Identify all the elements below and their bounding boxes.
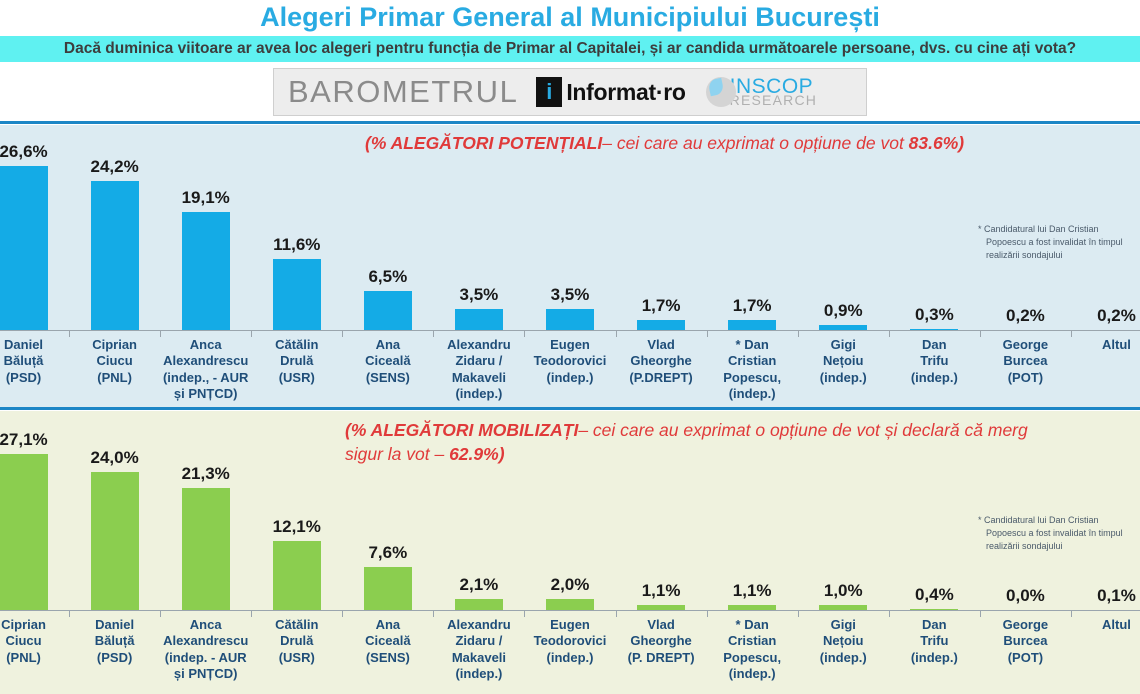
x-axis-label-line: (indep.) (525, 370, 614, 386)
bar-value-label: 1,1% (707, 581, 798, 601)
x-axis-labels-top: DanielBăluță(PSD)CiprianCiucu(PNL)AncaAl… (0, 337, 1140, 405)
x-axis-label-line: George (981, 617, 1070, 633)
x-axis-label-line: (PSD) (70, 650, 159, 666)
bar-value-label: 1,7% (707, 296, 798, 316)
bar-value-label: 1,0% (798, 581, 889, 601)
bar (273, 541, 321, 611)
bar-value-label: 19,1% (160, 188, 251, 208)
x-axis-label-line: Alexandru (434, 337, 523, 353)
bar-slot: 3,5% (524, 125, 615, 331)
x-axis-label-line: Dan (890, 337, 979, 353)
x-axis-label-line: Ciceală (343, 353, 432, 369)
bar-value-label: 0,2% (1071, 306, 1140, 326)
axis-tick (251, 331, 252, 337)
bar-value-label: 6,5% (342, 267, 433, 287)
bar-slot: 2,1% (433, 411, 524, 611)
bar-value-label: 21,3% (160, 464, 251, 484)
bar-slot: 26,6% (0, 125, 69, 331)
inscop-research-label: RESEARCH (730, 94, 817, 107)
bar-slot: 2,0% (524, 411, 615, 611)
x-axis-label-line: Makaveli (434, 650, 523, 666)
x-axis-label-line: Ciceală (343, 633, 432, 649)
x-axis-label-line: Gheorghe (617, 633, 706, 649)
x-axis-label-line: Vlad (617, 337, 706, 353)
x-axis-label: CiprianCiucu(PNL) (0, 617, 69, 693)
x-axis-label-line: Burcea (981, 353, 1070, 369)
x-axis-label: AlexandruZidaru /Makaveli(indep.) (433, 617, 524, 693)
bar-value-label: 1,7% (616, 296, 707, 316)
x-axis-label-line: Alexandrescu (161, 633, 250, 649)
x-axis-label-line: Altul (1072, 337, 1140, 353)
x-axis-label-line: (indep., - AUR (161, 370, 250, 386)
x-axis-label: Altul (1071, 337, 1140, 405)
bar-slot: 6,5% (342, 125, 433, 331)
poll-infographic: Alegeri Primar General al Municipiului B… (0, 0, 1140, 694)
x-axis-label-line: Gigi (799, 617, 888, 633)
bar-slot: 12,1% (251, 411, 342, 611)
x-axis-label-line: Băluță (70, 633, 159, 649)
x-axis-label-line: Trifu (890, 633, 979, 649)
x-axis-label-line: Cătălin (252, 617, 341, 633)
x-axis-label: EugenTeodorovici(indep.) (524, 337, 615, 405)
x-axis-label-line: (POT) (981, 370, 1070, 386)
axis-tick (69, 611, 70, 617)
axis-tick (342, 331, 343, 337)
x-axis-label: DanielBăluță(PSD) (69, 617, 160, 693)
bar-slot: 0,9% (798, 125, 889, 331)
axis-tick (342, 611, 343, 617)
bar-group-bottom: 27,1%24,0%21,3%12,1%7,6%2,1%2,0%1,1%1,1%… (0, 411, 1140, 611)
bar-slot: 24,2% (69, 125, 160, 331)
x-axis-label-line: (SENS) (343, 650, 432, 666)
logo-bar: BAROMETRUL i Informat·ro INSCOP RESEARCH (273, 68, 867, 116)
axis-tick (1071, 331, 1072, 337)
bar-value-label: 0,1% (1071, 586, 1140, 606)
x-axis-label-line: Ciprian (0, 617, 68, 633)
x-axis-label-line: Trifu (890, 353, 979, 369)
x-axis-label: DanielBăluță(PSD) (0, 337, 69, 405)
x-axis-label-line: Teodorovici (525, 633, 614, 649)
bar (0, 166, 48, 331)
axis-tick (524, 611, 525, 617)
x-axis-label: * DanCristianPopescu,(indep.) (707, 617, 798, 693)
bar-slot: 0,2% (980, 125, 1071, 331)
x-axis-label-line: (SENS) (343, 370, 432, 386)
bar-value-label: 12,1% (251, 517, 342, 537)
bar-value-label: 0,4% (889, 585, 980, 605)
x-axis-label: EugenTeodorovici(indep.) (524, 617, 615, 693)
axis-tick (798, 611, 799, 617)
bar (364, 567, 412, 611)
axis-tick (160, 331, 161, 337)
bar-value-label: 26,6% (0, 142, 69, 162)
axis-tick (980, 331, 981, 337)
bar-slot: 11,6% (251, 125, 342, 331)
x-axis-label-line: Nețoiu (799, 633, 888, 649)
informat-i-icon: i (536, 77, 562, 107)
bar-value-label: 0,2% (980, 306, 1071, 326)
bar (182, 488, 230, 611)
bar-value-label: 0,0% (980, 586, 1071, 606)
bar (364, 291, 412, 331)
x-axis-labels-bottom: CiprianCiucu(PNL)DanielBăluță(PSD)AncaAl… (0, 617, 1140, 693)
x-axis-label-line: Drulă (252, 633, 341, 649)
x-axis-label: GigiNețoiu(indep.) (798, 337, 889, 405)
x-axis-label-line: George (981, 337, 1070, 353)
x-axis-label: VladGheorghe(P. DREPT) (616, 617, 707, 693)
bar-slot: 1,7% (616, 125, 707, 331)
bar-slot: 1,1% (616, 411, 707, 611)
x-axis-label-line: Alexandru (434, 617, 523, 633)
axis-tick (433, 611, 434, 617)
x-axis-label: CătălinDrulă(USR) (251, 617, 342, 693)
bar-value-label: 3,5% (524, 285, 615, 305)
x-axis-label-line: Popescu, (708, 370, 797, 386)
axis-tick (889, 611, 890, 617)
x-axis-label-line: Zidaru / (434, 633, 523, 649)
bar-group-top: 26,6%24,2%19,1%11,6%6,5%3,5%3,5%1,7%1,7%… (0, 125, 1140, 331)
divider-middle (0, 407, 1140, 410)
bar-value-label: 24,2% (69, 157, 160, 177)
x-axis-label-line: Alexandrescu (161, 353, 250, 369)
x-axis-label-line: Eugen (525, 617, 614, 633)
axis-tick (433, 331, 434, 337)
x-axis-label-line: (indep.) (708, 666, 797, 682)
axis-tick (798, 331, 799, 337)
x-axis-label-line: Drulă (252, 353, 341, 369)
x-axis-label-line: Burcea (981, 633, 1070, 649)
x-axis-label: GeorgeBurcea(POT) (980, 337, 1071, 405)
x-axis-label: AnaCiceală(SENS) (342, 337, 433, 405)
x-axis-label-line: Altul (1072, 617, 1140, 633)
x-axis-label: GeorgeBurcea(POT) (980, 617, 1071, 693)
x-axis-label: DanTrifu(indep.) (889, 337, 980, 405)
axis-tick (251, 611, 252, 617)
x-axis-label-line: Ciprian (70, 337, 159, 353)
page-title: Alegeri Primar General al Municipiului B… (0, 2, 1140, 33)
bar-value-label: 0,9% (798, 301, 889, 321)
x-axis-label-line: Gheorghe (617, 353, 706, 369)
x-axis-label-line: (indep.) (434, 666, 523, 682)
plot-area-top: 26,6%24,2%19,1%11,6%6,5%3,5%3,5%1,7%1,7%… (0, 125, 1140, 331)
axis-tick (707, 611, 708, 617)
bar-slot: 0,1% (1071, 411, 1140, 611)
bar-slot: 7,6% (342, 411, 433, 611)
x-axis-label: CiprianCiucu(PNL) (69, 337, 160, 405)
x-axis-label-line: Anca (161, 617, 250, 633)
axis-tick (160, 611, 161, 617)
x-axis-label-line: Ciucu (0, 633, 68, 649)
bar (91, 472, 139, 611)
x-axis-label-line: Cristian (708, 353, 797, 369)
x-axis-label-line: (indep.) (525, 650, 614, 666)
axis-tick (69, 331, 70, 337)
axis-tick (524, 331, 525, 337)
axis-tick (1071, 611, 1072, 617)
bar-slot: 0,4% (889, 411, 980, 611)
x-axis-label-line: Cătălin (252, 337, 341, 353)
x-axis-label-line: (PNL) (70, 370, 159, 386)
bar (0, 454, 48, 611)
bar (546, 309, 594, 331)
inscop-circle-icon (706, 77, 736, 107)
informat-ro-wordmark: Informat·ro (566, 79, 685, 106)
x-axis-label-line: (indep.) (434, 386, 523, 402)
x-axis-label-line: (indep. - AUR (161, 650, 250, 666)
x-axis-label-line: Eugen (525, 337, 614, 353)
x-axis-label-line: Cristian (708, 633, 797, 649)
x-axis-label-line: Daniel (70, 617, 159, 633)
axis-tick (707, 331, 708, 337)
x-axis-label-line: Zidaru / (434, 353, 523, 369)
bar-value-label: 11,6% (251, 235, 342, 255)
axis-tick (616, 331, 617, 337)
x-axis-label: * DanCristianPopescu,(indep.) (707, 337, 798, 405)
bar-slot: 19,1% (160, 125, 251, 331)
chart-alegatori-potentiali: (% ALEGĂTORI POTENȚIALI– cei care au exp… (0, 125, 1140, 407)
bar-value-label: 7,6% (342, 543, 433, 563)
x-axis-label-line: Daniel (0, 337, 68, 353)
x-axis-label-line: (P.DREPT) (617, 370, 706, 386)
informat-ro-logo: i Informat·ro (536, 77, 685, 107)
bar-slot: 1,0% (798, 411, 889, 611)
x-axis-label-line: (PNL) (0, 650, 68, 666)
bar-slot: 0,3% (889, 125, 980, 331)
x-axis-label-line: (USR) (252, 650, 341, 666)
x-axis-top (0, 330, 1140, 331)
x-axis-label-line: Băluță (0, 353, 68, 369)
x-axis-label-line: (USR) (252, 370, 341, 386)
axis-tick (889, 331, 890, 337)
x-axis-label-line: (indep.) (890, 650, 979, 666)
bar-slot: 1,1% (707, 411, 798, 611)
axis-tick (616, 611, 617, 617)
chart-alegatori-mobilizati: (% ALEGĂTORI MOBILIZAȚI– cei care au exp… (0, 411, 1140, 694)
inscop-logo: INSCOP RESEARCH (706, 77, 817, 108)
x-axis-label-line: (P. DREPT) (617, 650, 706, 666)
x-axis-label: Altul (1071, 617, 1140, 693)
bar (455, 309, 503, 331)
x-axis-label-line: Teodorovici (525, 353, 614, 369)
x-axis-label-line: Ana (343, 617, 432, 633)
bar-slot: 0,2% (1071, 125, 1140, 331)
x-axis-label-line: (POT) (981, 650, 1070, 666)
barometrul-wordmark: BAROMETRUL (288, 74, 518, 110)
x-axis-bottom (0, 610, 1140, 611)
x-axis-label-line: Makaveli (434, 370, 523, 386)
x-axis-label: AnaCiceală(SENS) (342, 617, 433, 693)
x-axis-label-line: și PNȚCD) (161, 386, 250, 402)
bar-value-label: 24,0% (69, 448, 160, 468)
x-axis-label-line: Ana (343, 337, 432, 353)
bar-value-label: 2,0% (524, 575, 615, 595)
bar-value-label: 1,1% (616, 581, 707, 601)
x-axis-label-line: Nețoiu (799, 353, 888, 369)
subtitle-question: Dacă duminica viitoare ar avea loc alege… (0, 36, 1140, 62)
x-axis-label: GigiNețoiu(indep.) (798, 617, 889, 693)
informat-i-glyph: i (546, 81, 552, 103)
x-axis-label-line: Anca (161, 337, 250, 353)
x-axis-label-line: (indep.) (708, 386, 797, 402)
x-axis-label-line: (PSD) (0, 370, 68, 386)
bar-value-label: 0,3% (889, 305, 980, 325)
x-axis-label-line: și PNȚCD) (161, 666, 250, 682)
x-axis-label: DanTrifu(indep.) (889, 617, 980, 693)
inscop-wordmark: INSCOP RESEARCH (730, 77, 817, 108)
plot-area-bottom: 27,1%24,0%21,3%12,1%7,6%2,1%2,0%1,1%1,1%… (0, 411, 1140, 611)
x-axis-label-line: Gigi (799, 337, 888, 353)
bar-slot: 24,0% (69, 411, 160, 611)
x-axis-label-line: Dan (890, 617, 979, 633)
bar-value-label: 27,1% (0, 430, 69, 450)
x-axis-label-line: * Dan (708, 617, 797, 633)
x-axis-label-line: Popescu, (708, 650, 797, 666)
bar-slot: 3,5% (433, 125, 524, 331)
x-axis-label-line: (indep.) (799, 650, 888, 666)
x-axis-label-line: (indep.) (799, 370, 888, 386)
x-axis-label-line: * Dan (708, 337, 797, 353)
x-axis-label: CătălinDrulă(USR) (251, 337, 342, 405)
divider-top (0, 121, 1140, 124)
x-axis-label: AlexandruZidaru /Makaveli(indep.) (433, 337, 524, 405)
x-axis-label: AncaAlexandrescu(indep., - AURși PNȚCD) (160, 337, 251, 405)
x-axis-label: AncaAlexandrescu(indep. - AURși PNȚCD) (160, 617, 251, 693)
bar (182, 212, 230, 331)
x-axis-label-line: Ciucu (70, 353, 159, 369)
bar-value-label: 2,1% (433, 575, 524, 595)
x-axis-label-line: (indep.) (890, 370, 979, 386)
bar-slot: 1,7% (707, 125, 798, 331)
bar-value-label: 3,5% (433, 285, 524, 305)
bar (91, 181, 139, 331)
x-axis-label-line: Vlad (617, 617, 706, 633)
bar-slot: 0,0% (980, 411, 1071, 611)
bar (273, 259, 321, 331)
axis-tick (980, 611, 981, 617)
x-axis-label: VladGheorghe(P.DREPT) (616, 337, 707, 405)
bar-slot: 21,3% (160, 411, 251, 611)
bar-slot: 27,1% (0, 411, 69, 611)
